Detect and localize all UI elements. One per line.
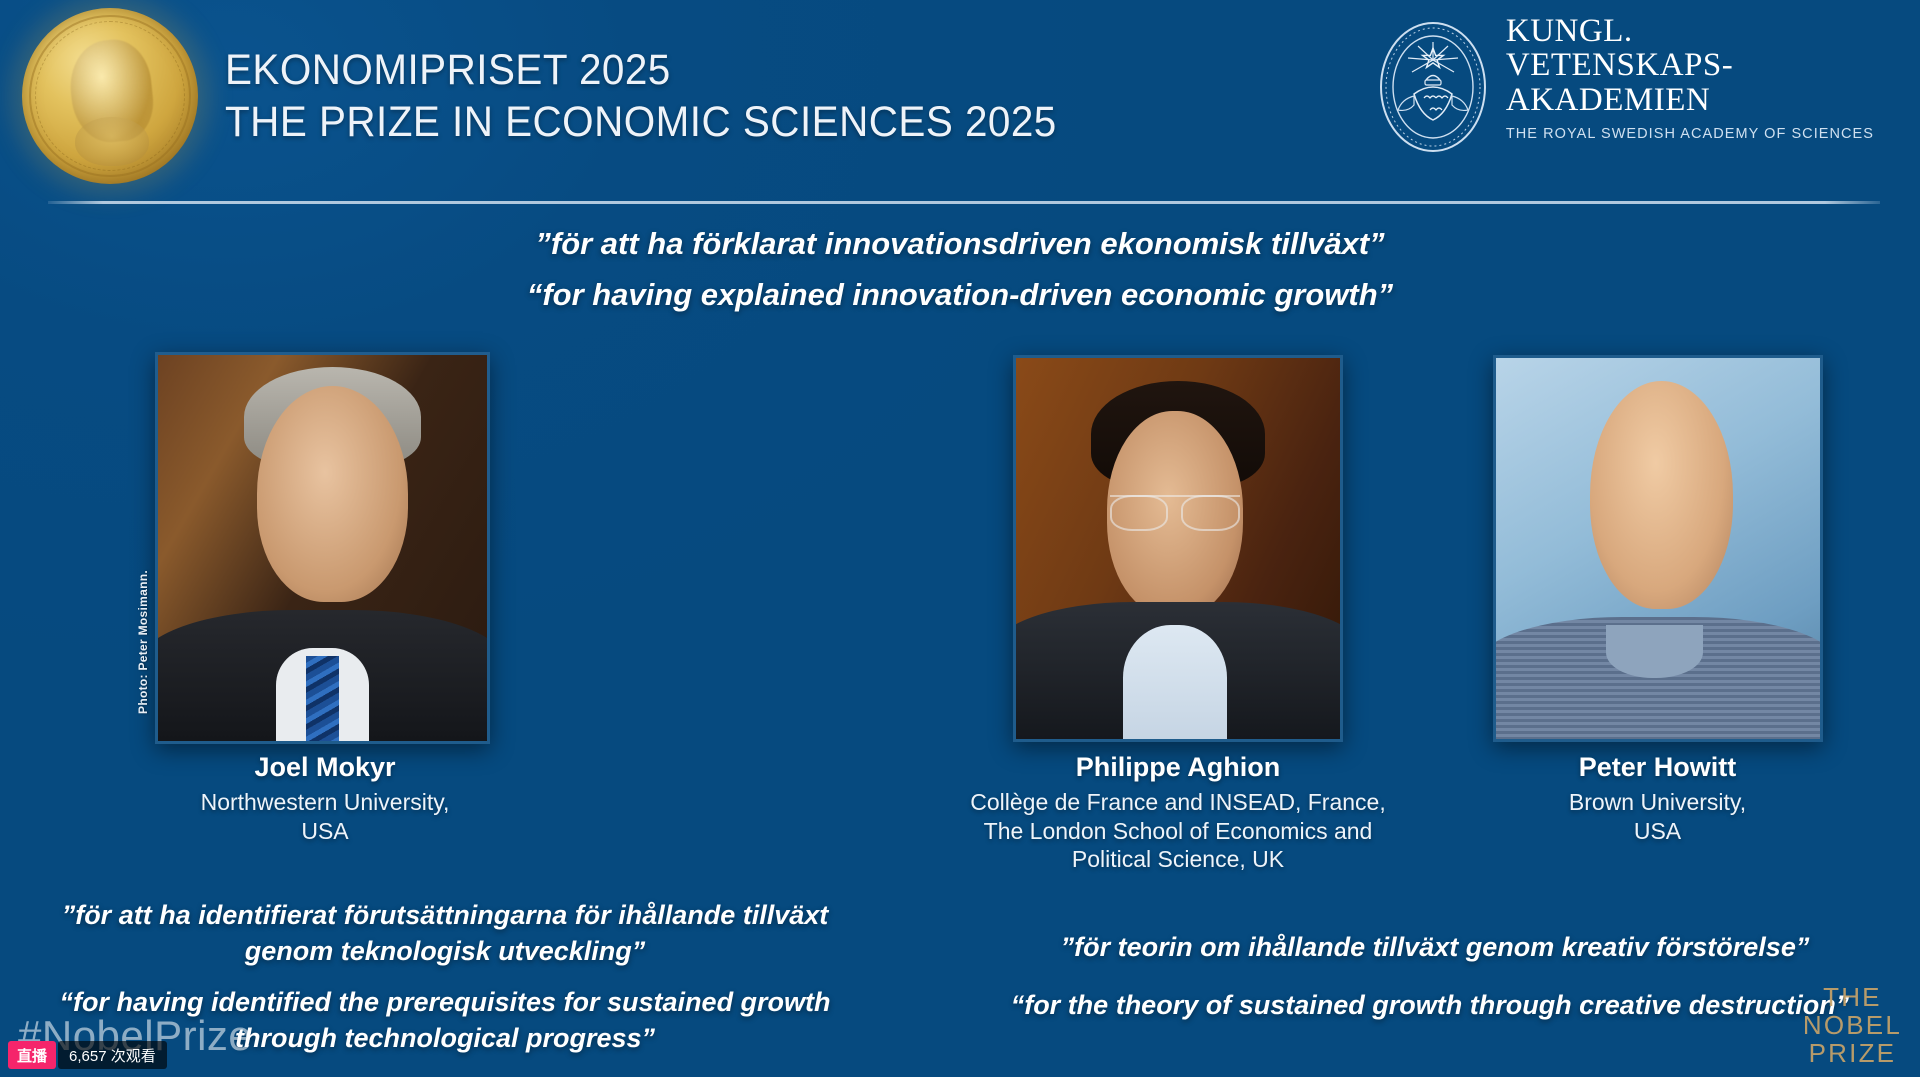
bottom-citation-left-swedish: ”för att ha identifierat förutsättningar… — [10, 898, 880, 970]
royal-academy-seal-icon — [1378, 18, 1488, 156]
laureate-name-2: Philippe Aghion — [878, 752, 1478, 783]
laureate-affiliation-3: Brown University,USA — [1420, 788, 1895, 845]
academy-wordmark: KUNGL. VETENSKAPS- AKADEMIEN THE ROYAL S… — [1506, 14, 1874, 142]
photo-credit-mokyr: Photo: Peter Mosimann. — [136, 570, 150, 714]
nobel-medal-icon — [22, 8, 198, 184]
bottom-citation-right-swedish: ”för teorin om ihållande tillväxt genom … — [960, 930, 1910, 966]
live-status-overlay: 直播 6,657 次观看 — [8, 1041, 167, 1069]
portrait-joel-mokyr — [155, 352, 490, 744]
academy-line-3: AKADEMIEN — [1506, 83, 1874, 117]
nobel-logo-line-3: PRIZE — [1803, 1039, 1902, 1067]
laureate-affiliation-2: Collège de France and INSEAD, France,The… — [878, 788, 1478, 874]
title-english: THE PRIZE IN ECONOMIC SCIENCES 2025 — [225, 96, 1057, 148]
nobel-logo-line-2: NOBEL — [1803, 1011, 1902, 1039]
broadcast-slide: EKONOMIPRISET 2025 THE PRIZE IN ECONOMIC… — [0, 0, 1920, 1077]
header-divider — [48, 201, 1880, 204]
nobel-logo-line-1: THE — [1803, 983, 1902, 1011]
citation-swedish: ”för att ha förklarat innovationsdriven … — [0, 226, 1920, 262]
live-badge: 直播 — [8, 1041, 56, 1069]
royal-academy-logo: KUNGL. VETENSKAPS- AKADEMIEN THE ROYAL S… — [1378, 14, 1874, 156]
academy-line-2: VETENSKAPS- — [1506, 48, 1874, 82]
bottom-citation-right-english: “for the theory of sustained growth thro… — [930, 988, 1920, 1024]
medal-beard-relief — [75, 117, 149, 166]
citation-english: “for having explained innovation-driven … — [0, 277, 1920, 313]
academy-subtitle: THE ROYAL SWEDISH ACADEMY OF SCIENCES — [1506, 126, 1874, 142]
portrait-philippe-aghion — [1013, 355, 1343, 742]
laureate-name-1: Joel Mokyr — [60, 752, 590, 783]
title-swedish: EKONOMIPRISET 2025 — [225, 44, 1057, 96]
laureate-affiliation-1: Northwestern University,USA — [60, 788, 590, 845]
laureate-name-3: Peter Howitt — [1420, 752, 1895, 783]
nobel-prize-logo: THE NOBEL PRIZE — [1803, 983, 1902, 1067]
portrait-peter-howitt — [1493, 355, 1823, 742]
academy-line-1: KUNGL. — [1506, 14, 1874, 48]
page-title: EKONOMIPRISET 2025 THE PRIZE IN ECONOMIC… — [225, 44, 1110, 149]
viewer-count-badge: 6,657 次观看 — [58, 1041, 167, 1069]
